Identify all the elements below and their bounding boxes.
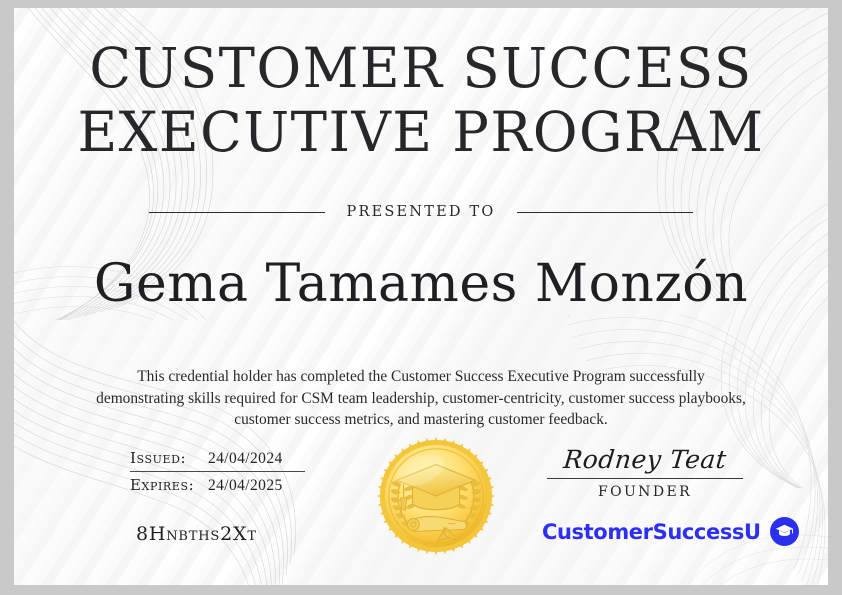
issued-label: Issued:	[130, 449, 208, 467]
credential-id: 8Hnbths2Xt	[136, 523, 257, 545]
certificate-frame: CUSTOMER SUCCESS EXECUTIVE PROGRAM PRESE…	[0, 0, 842, 595]
signature-block: Rodney Teat FOUNDER	[545, 443, 745, 500]
presented-rule-left	[149, 212, 325, 213]
presented-rule-right	[517, 212, 693, 213]
recipient-name: Gema Tamames Monzón	[14, 253, 828, 315]
brand-badge	[770, 517, 799, 546]
expires-label: Expires:	[130, 476, 208, 494]
dates-divider	[130, 471, 305, 472]
title-line-1: CUSTOMER SUCCESS	[18, 36, 824, 100]
expires-value: 24/04/2025	[208, 477, 283, 495]
certificate-content: CUSTOMER SUCCESS EXECUTIVE PROGRAM PRESE…	[14, 8, 828, 585]
certificate-page: CUSTOMER SUCCESS EXECUTIVE PROGRAM PRESE…	[14, 8, 828, 585]
brand-name: CustomerSuccessU	[542, 520, 761, 544]
title-line-2: EXECUTIVE PROGRAM	[18, 100, 824, 164]
certificate-footer: Issued: 24/04/2024 Expires: 24/04/2025 8…	[14, 435, 828, 585]
brand-logo[interactable]: CustomerSuccessU	[542, 517, 799, 546]
certificate-body-text: This credential holder has completed the…	[96, 366, 746, 431]
signature-role: FOUNDER	[545, 484, 745, 500]
issued-row: Issued: 24/04/2024	[130, 449, 320, 468]
gold-seal-graduation-cap-icon	[377, 437, 495, 555]
dates-block: Issued: 24/04/2024 Expires: 24/04/2025	[130, 449, 320, 495]
certificate-title: CUSTOMER SUCCESS EXECUTIVE PROGRAM	[14, 36, 828, 164]
presented-to-label: PRESENTED TO	[347, 204, 496, 220]
expires-row: Expires: 24/04/2025	[130, 476, 320, 495]
signature-rule	[547, 478, 743, 479]
issued-value: 24/04/2024	[208, 450, 283, 468]
signature-name: Rodney Teat	[543, 443, 747, 477]
graduation-cap-icon	[775, 524, 794, 539]
presented-to-row: PRESENTED TO	[14, 204, 828, 220]
